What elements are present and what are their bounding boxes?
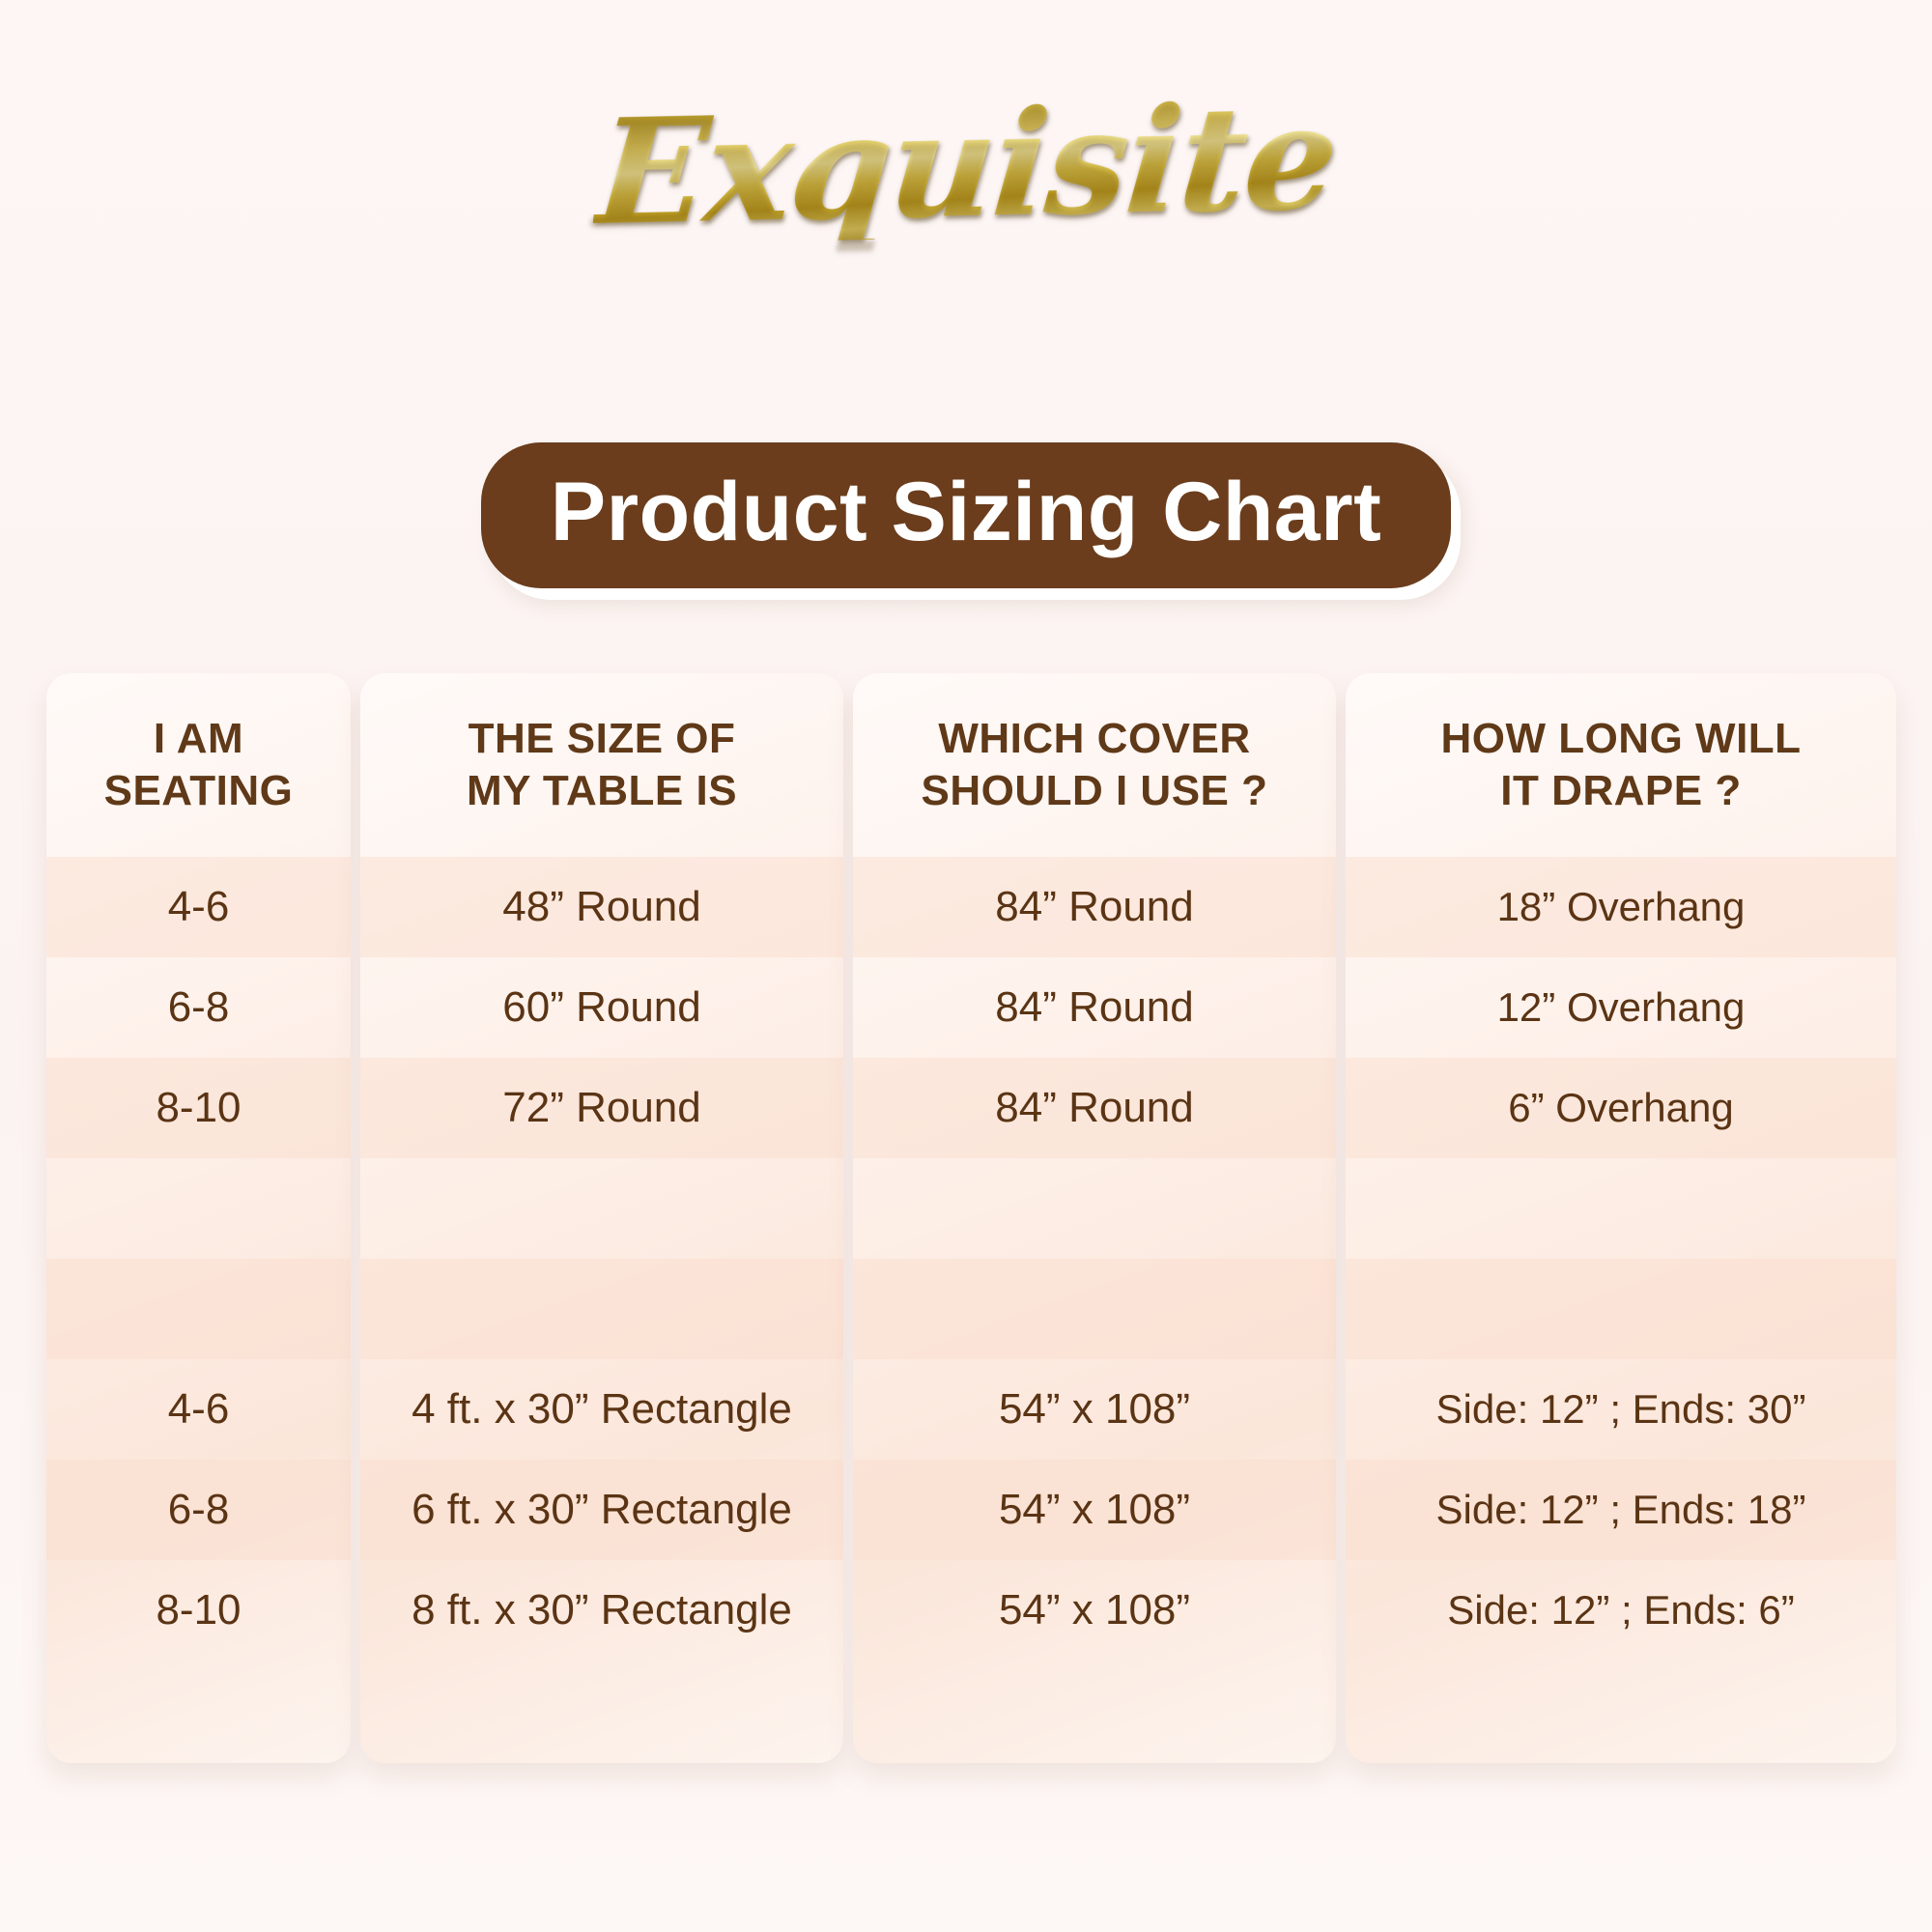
table-cell-empty — [46, 1158, 351, 1259]
table-cell-empty — [46, 1259, 351, 1359]
table-cell: Side: 12” ; Ends: 6” — [1346, 1560, 1896, 1661]
table-cell: 72” Round — [360, 1058, 843, 1158]
column-footer-space — [1346, 1661, 1896, 1763]
table-cell: 84” Round — [853, 857, 1336, 957]
column-header-seating: I AM SEATING — [46, 673, 351, 857]
column-footer-space — [853, 1661, 1336, 1763]
table-cell-empty — [360, 1158, 843, 1259]
column-header-label: THE SIZE OF MY TABLE IS — [467, 713, 737, 816]
table-cell: 4 ft. x 30” Rectangle — [360, 1359, 843, 1460]
sizing-table: I AM SEATING4-66-88-104-66-88-10THE SIZE… — [46, 673, 1887, 1763]
table-cell-empty — [853, 1259, 1336, 1359]
table-cell: 48” Round — [360, 857, 843, 957]
column-header-table_size: THE SIZE OF MY TABLE IS — [360, 673, 843, 857]
table-cell: 54” x 108” — [853, 1359, 1336, 1460]
table-cell-empty — [1346, 1259, 1896, 1359]
table-cell-empty — [853, 1158, 1336, 1259]
table-cell: 12” Overhang — [1346, 957, 1896, 1058]
table-cell: 8-10 — [46, 1560, 351, 1661]
column-header-label: I AM SEATING — [104, 713, 294, 816]
table-cell: 84” Round — [853, 1058, 1336, 1158]
table-column-cover: WHICH COVER SHOULD I USE ?84” Round84” R… — [853, 673, 1336, 1763]
table-cell: 6-8 — [46, 1460, 351, 1560]
table-cell: 60” Round — [360, 957, 843, 1058]
table-cell: Side: 12” ; Ends: 30” — [1346, 1359, 1896, 1460]
column-footer-space — [360, 1661, 843, 1763]
page-title-container: Product Sizing Chart — [0, 442, 1932, 588]
column-header-label: WHICH COVER SHOULD I USE ? — [921, 713, 1267, 816]
table-column-seating: I AM SEATING4-66-88-104-66-88-10 — [46, 673, 351, 1763]
table-cell: 54” x 108” — [853, 1560, 1336, 1661]
table-cell: 54” x 108” — [853, 1460, 1336, 1560]
table-cell: 8-10 — [46, 1058, 351, 1158]
brand-logo: Exquisite — [0, 93, 1932, 296]
column-header-cover: WHICH COVER SHOULD I USE ? — [853, 673, 1336, 857]
table-column-table_size: THE SIZE OF MY TABLE IS48” Round60” Roun… — [360, 673, 843, 1763]
table-cell: 4-6 — [46, 1359, 351, 1460]
column-header-label: HOW LONG WILL IT DRAPE ? — [1440, 713, 1801, 816]
table-cell: 4-6 — [46, 857, 351, 957]
table-cell: 84” Round — [853, 957, 1336, 1058]
page-title: Product Sizing Chart — [481, 442, 1451, 588]
column-header-drape: HOW LONG WILL IT DRAPE ? — [1346, 673, 1896, 857]
brand-name: Exquisite — [591, 85, 1342, 245]
table-column-drape: HOW LONG WILL IT DRAPE ?18” Overhang12” … — [1346, 673, 1896, 1763]
table-cell: 6” Overhang — [1346, 1058, 1896, 1158]
table-cell-empty — [1346, 1158, 1896, 1259]
table-cell: 6 ft. x 30” Rectangle — [360, 1460, 843, 1560]
table-cell: Side: 12” ; Ends: 18” — [1346, 1460, 1896, 1560]
column-footer-space — [46, 1661, 351, 1763]
table-cell-empty — [360, 1259, 843, 1359]
table-cell: 18” Overhang — [1346, 857, 1896, 957]
table-cell: 6-8 — [46, 957, 351, 1058]
sizing-chart-page: Exquisite Product Sizing Chart I AM SEAT… — [0, 0, 1932, 1932]
table-cell: 8 ft. x 30” Rectangle — [360, 1560, 843, 1661]
